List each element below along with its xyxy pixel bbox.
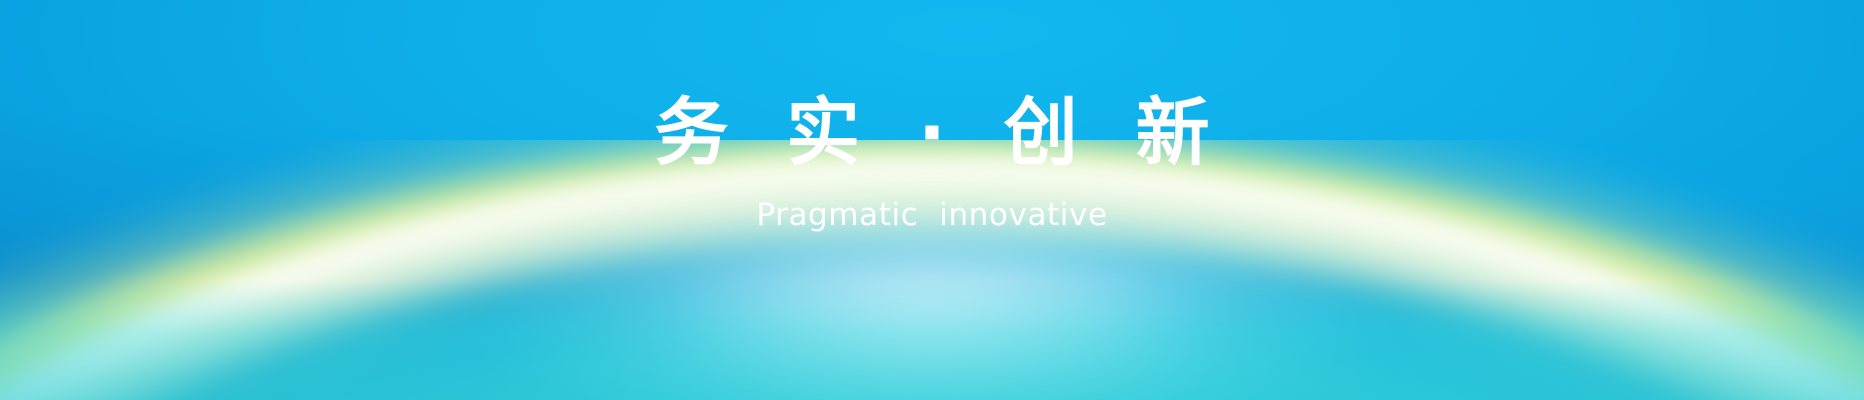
banner-headline: 务 实 · 创 新 — [638, 96, 1225, 171]
banner-content: 务 实 · 创 新 Pragmatic innovative — [0, 0, 1864, 400]
banner-subtitle: Pragmatic innovative — [756, 171, 1107, 233]
hero-banner: 务 实 · 创 新 Pragmatic innovative — [0, 0, 1864, 400]
